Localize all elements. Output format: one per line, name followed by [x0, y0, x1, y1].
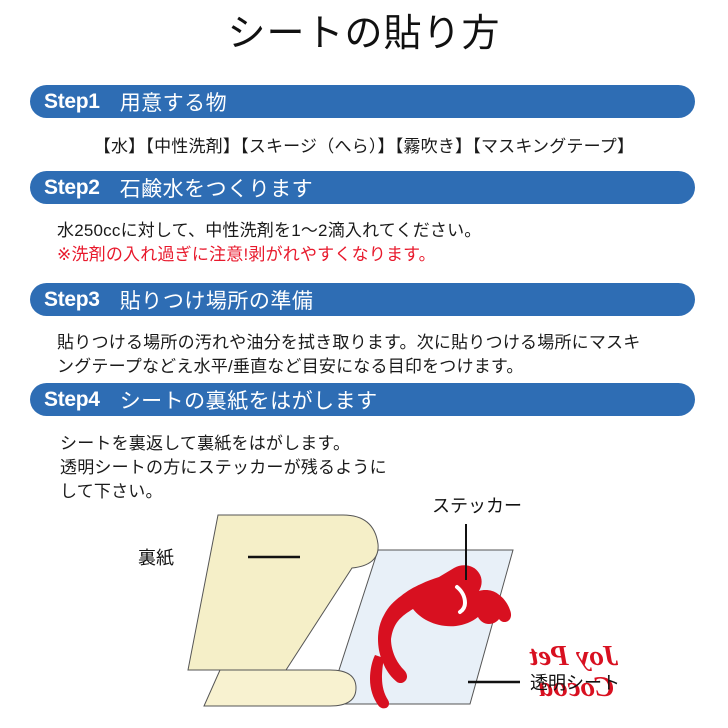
- label-transparent-sheet: 透明シート: [530, 673, 620, 693]
- step-heading-4: シートの裏紙をはがします: [120, 385, 378, 415]
- step3-body-line-2: ングテープなどえ水平/垂直など目安になる目印をつけます。: [57, 355, 524, 379]
- label-backing-paper: 裏紙: [138, 548, 174, 568]
- step-bar-1: Step1 用意する物: [30, 85, 695, 118]
- sticker-text-line-1: Joy Pet: [529, 640, 619, 672]
- step2-body-line-1: 水250ccに対して、中性洗剤を1～2滴入れてください。: [57, 219, 482, 243]
- step-heading-2: 石鹸水をつくります: [120, 173, 314, 203]
- backing-paper-flap: [204, 670, 356, 706]
- step2-warning: ※洗剤の入れ過ぎに注意!剥がれやすくなります。: [57, 243, 436, 267]
- label-sticker: ステッカー: [432, 496, 522, 516]
- step-bar-2: Step2 石鹸水をつくります: [30, 171, 695, 204]
- step4-body-line-2: 透明シートの方にステッカーが残るように: [60, 456, 387, 480]
- step-number-3: Step3: [44, 288, 100, 312]
- step-bar-3: Step3 貼りつけ場所の準備: [30, 283, 695, 316]
- step-heading-1: 用意する物: [120, 87, 228, 117]
- step-bar-4: Step4 シートの裏紙をはがします: [30, 383, 695, 416]
- sticker-text-mirrored: Joy Pet Cocoa: [529, 640, 619, 703]
- step-number-2: Step2: [44, 176, 100, 200]
- step-number-1: Step1: [44, 90, 100, 114]
- step4-body-line-1: シートを裏返して裏紙をはがします。: [60, 432, 350, 456]
- step1-body-line-1: 【水】【中性洗剤】【スキージ（へら）】【霧吹き】【マスキングテープ】: [0, 135, 728, 159]
- step-number-4: Step4: [44, 388, 100, 412]
- step-heading-3: 貼りつけ場所の準備: [120, 285, 314, 315]
- page-title: シートの貼り方: [0, 8, 728, 60]
- step3-body-line-1: 貼りつける場所の汚れや油分を拭き取ります。次に貼りつける場所にマスキ: [57, 331, 640, 355]
- peel-diagram: Joy Pet Cocoa 裏紙 ステッカー 透明シート: [100, 482, 728, 728]
